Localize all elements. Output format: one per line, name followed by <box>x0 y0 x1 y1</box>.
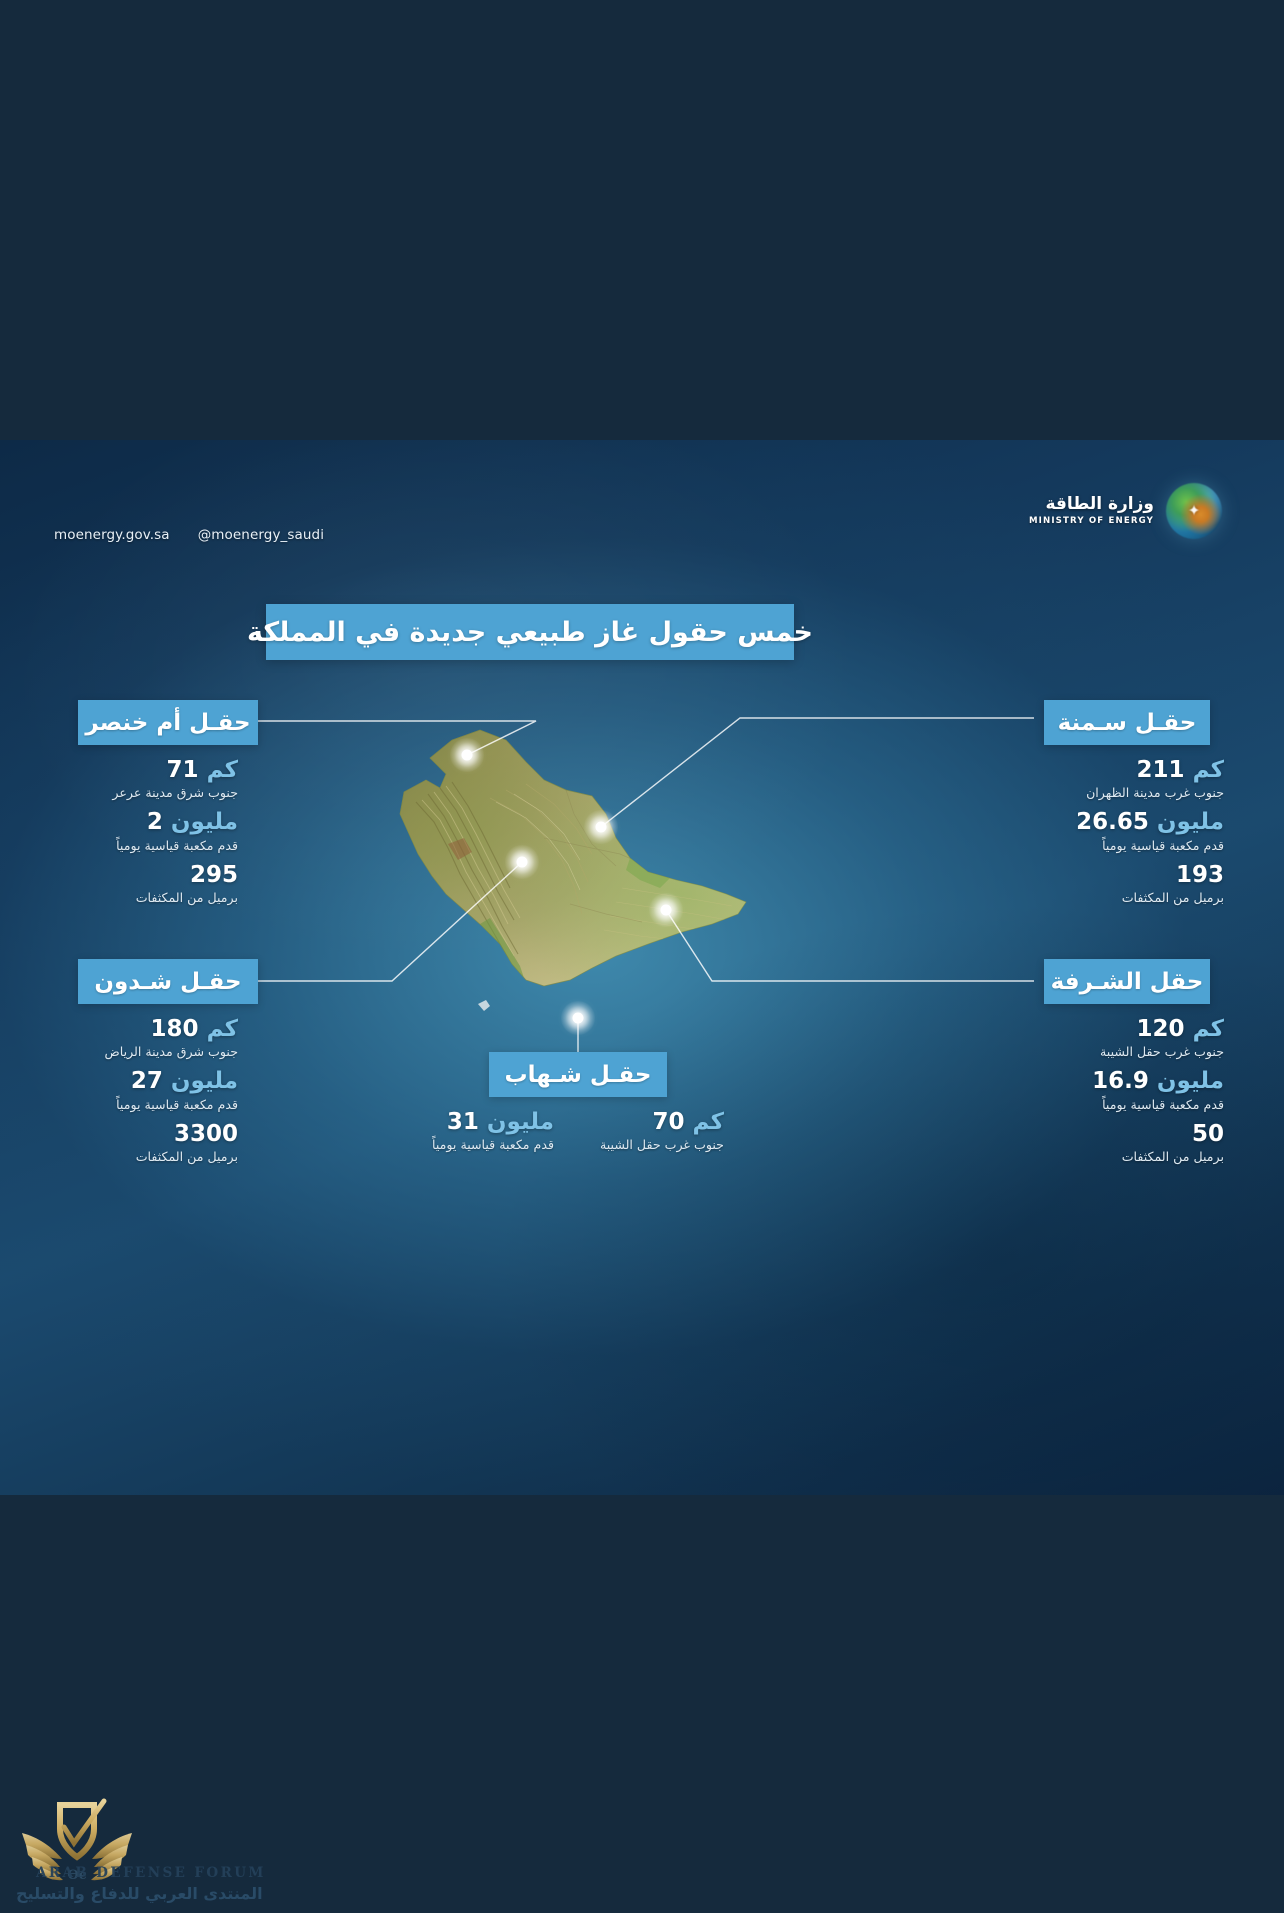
forum-watermark: ϴϵ ARAB DEFENSE FORUM المنتدى العربي للد… <box>8 1787 308 1907</box>
field-card-body: كم 120 جنوب غرب حقل الشيبة مليون 16.9 قد… <box>1034 1004 1224 1167</box>
saudi-emblem-icon: ✦ <box>1188 504 1201 519</box>
field-condensate-value: 50 <box>1192 1121 1224 1147</box>
field-gas-caption: قدم مكعبة قياسية يومياً <box>60 837 238 856</box>
field-distance: كم 70 <box>600 1109 724 1135</box>
field-distance-value: 180 <box>151 1016 199 1042</box>
field-distance-unit: كم <box>693 1109 724 1135</box>
field-name-bar: حقل الشـرفة <box>1044 959 1210 1004</box>
infographic-root: moenergy.gov.sa @moenergy_saudi ✦ وزارة … <box>0 0 1284 1913</box>
field-distance-group: كم 70 جنوب غرب حقل الشيبة <box>600 1109 724 1155</box>
field-condensate-value: 295 <box>190 862 238 888</box>
field-card-body: كم 180 جنوب شرق مدينة الرياض مليون 27 قد… <box>60 1004 238 1167</box>
field-name-label: حقل الشـرفة <box>1051 969 1204 995</box>
page-title: خمس حقول غاز طبيعي جديدة في المملكة <box>266 604 794 660</box>
page-title-text: خمس حقول غاز طبيعي جديدة في المملكة <box>247 617 813 648</box>
field-location: جنوب شرق مدينة عرعر <box>60 784 238 803</box>
ministry-logo: ✦ وزارة الطاقة MINISTRY OF ENERGY <box>1029 483 1222 539</box>
field-condensate-caption: برميل من المكثفات <box>1034 1148 1224 1167</box>
field-card-samna[interactable]: حقـل سـمنة كم 211 جنوب غرب مدينة الظهران… <box>1034 700 1224 908</box>
field-name-label: حقـل أم خنصر <box>85 710 250 736</box>
logo-text: وزارة الطاقة MINISTRY OF ENERGY <box>1029 495 1154 527</box>
field-gas-caption: قدم مكعبة قياسية يومياً <box>60 1096 238 1115</box>
field-name-label: حقـل شـهاب <box>505 1062 652 1088</box>
map-terrain-shading <box>330 718 770 1038</box>
globe-icon: ✦ <box>1166 483 1222 539</box>
field-condensate-caption: برميل من المكثفات <box>1034 889 1224 908</box>
field-card-al-sharfa[interactable]: حقل الشـرفة كم 120 جنوب غرب حقل الشيبة م… <box>1034 959 1224 1167</box>
field-distance-value: 70 <box>653 1109 685 1135</box>
field-card-umm-khansar[interactable]: حقـل أم خنصر كم 71 جنوب شرق مدينة عرعر م… <box>60 700 238 908</box>
field-condensate-value: 193 <box>1176 862 1224 888</box>
field-gas-unit: مليون <box>1157 1068 1224 1094</box>
field-name-bar: حقـل شـدون <box>78 959 258 1004</box>
saudi-arabia-relief-map <box>330 718 770 1038</box>
field-card-shihab[interactable]: حقـل شـهاب كم 70 جنوب غرب حقل الشيبة ملي… <box>411 1052 745 1155</box>
header-links: moenergy.gov.sa @moenergy_saudi <box>54 527 324 543</box>
field-gas: مليون 26.65 <box>1034 809 1224 835</box>
field-gas-unit: مليون <box>171 1068 238 1094</box>
field-gas-value: 16.9 <box>1092 1068 1149 1094</box>
website-link[interactable]: moenergy.gov.sa <box>54 527 170 543</box>
field-gas-caption: قدم مكعبة قياسية يومياً <box>1034 1096 1224 1115</box>
field-distance-unit: كم <box>207 757 238 783</box>
field-gas-value: 27 <box>131 1068 163 1094</box>
field-distance-unit: كم <box>1193 1016 1224 1042</box>
field-gas-value: 26.65 <box>1076 809 1149 835</box>
field-condensate: 193 <box>1034 862 1224 888</box>
field-condensate-caption: برميل من المكثفات <box>60 889 238 908</box>
field-distance-value: 120 <box>1137 1016 1185 1042</box>
field-name-bar: حقـل سـمنة <box>1044 700 1210 745</box>
field-name-bar: حقـل شـهاب <box>489 1052 667 1097</box>
field-distance-value: 71 <box>167 757 199 783</box>
watermark-arabic-label: المنتدى العربي للدفاع والتسليح <box>16 1884 263 1903</box>
field-distance-unit: كم <box>207 1016 238 1042</box>
field-distance: كم 211 <box>1034 757 1224 783</box>
field-distance-value: 211 <box>1137 757 1185 783</box>
logo-arabic-label: وزارة الطاقة <box>1029 495 1154 514</box>
field-card-body: كم 211 جنوب غرب مدينة الظهران مليون 26.6… <box>1034 745 1224 908</box>
field-gas-unit: مليون <box>171 809 238 835</box>
map-svg <box>330 718 770 1038</box>
field-location: جنوب غرب مدينة الظهران <box>1034 784 1224 803</box>
field-name-label: حقـل شـدون <box>94 969 241 995</box>
field-condensate: 3300 <box>60 1121 238 1147</box>
field-name-bar: حقـل أم خنصر <box>78 700 258 745</box>
logo-english-label: MINISTRY OF ENERGY <box>1029 517 1154 527</box>
field-card-body: كم 71 جنوب شرق مدينة عرعر مليون 2 قدم مك… <box>60 745 238 908</box>
field-card-shadun[interactable]: حقـل شـدون كم 180 جنوب شرق مدينة الرياض … <box>60 959 238 1167</box>
field-condensate: 50 <box>1034 1121 1224 1147</box>
field-name-label: حقـل سـمنة <box>1058 710 1197 736</box>
watermark-english-label: ARAB DEFENSE FORUM <box>36 1865 266 1881</box>
field-location: جنوب شرق مدينة الرياض <box>60 1043 238 1062</box>
map-island <box>478 1000 490 1011</box>
field-condensate-value: 3300 <box>174 1121 238 1147</box>
field-gas-caption: قدم مكعبة قياسية يومياً <box>432 1136 554 1155</box>
field-gas: مليون 16.9 <box>1034 1068 1224 1094</box>
field-gas-group: مليون 31 قدم مكعبة قياسية يومياً <box>432 1109 554 1155</box>
field-gas-unit: مليون <box>487 1109 554 1135</box>
field-condensate: 295 <box>60 862 238 888</box>
field-gas: مليون 2 <box>60 809 238 835</box>
field-gas-caption: قدم مكعبة قياسية يومياً <box>1034 837 1224 856</box>
field-distance: كم 180 <box>60 1016 238 1042</box>
social-handle-link[interactable]: @moenergy_saudi <box>198 527 324 543</box>
field-location: جنوب غرب حقل الشيبة <box>1034 1043 1224 1062</box>
field-gas: مليون 27 <box>60 1068 238 1094</box>
field-distance-unit: كم <box>1193 757 1224 783</box>
field-gas: مليون 31 <box>432 1109 554 1135</box>
field-condensate-caption: برميل من المكثفات <box>60 1148 238 1167</box>
field-gas-value: 2 <box>147 809 163 835</box>
field-distance: كم 120 <box>1034 1016 1224 1042</box>
field-distance: كم 71 <box>60 757 238 783</box>
field-card-body: كم 70 جنوب غرب حقل الشيبة مليون 31 قدم م… <box>411 1109 745 1155</box>
field-gas-unit: مليون <box>1157 809 1224 835</box>
field-location: جنوب غرب حقل الشيبة <box>600 1136 724 1155</box>
field-gas-value: 31 <box>447 1109 479 1135</box>
